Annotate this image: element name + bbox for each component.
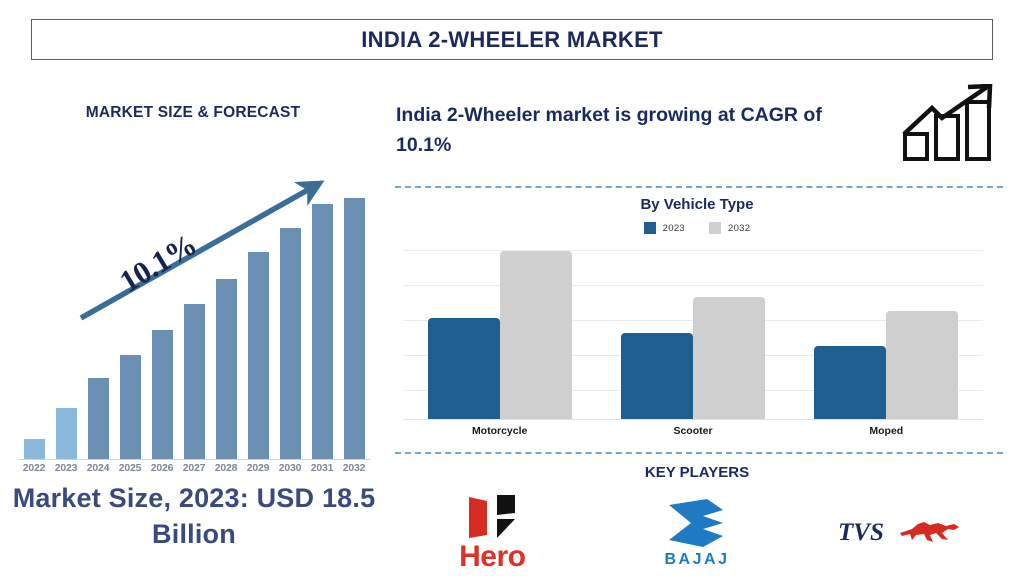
forecast-bar-wrap: [242, 173, 274, 459]
forecast-year-label: 2029: [242, 462, 274, 474]
vehicle-type-bar: [886, 311, 958, 420]
legend-item: 2032: [709, 222, 750, 234]
market-size-forecast-panel: MARKET SIZE & FORECAST 10.1% 20222023202…: [0, 70, 386, 576]
forecast-bar: [56, 408, 77, 459]
vehicle-type-bar: [621, 333, 693, 420]
forecast-year-label: 2026: [146, 462, 178, 474]
divider-top: [395, 186, 1003, 188]
vehicle-type-bar: [814, 346, 886, 420]
key-players-title: KEY PLAYERS: [390, 464, 1004, 481]
bajaj-logo-icon: [663, 497, 731, 549]
forecast-bar: [280, 228, 301, 459]
forecast-bar-wrap: [178, 173, 210, 459]
forecast-bar-wrap: [50, 173, 82, 459]
key-players-row: Hero BAJAJ TVS: [390, 488, 1004, 576]
forecast-bar: [184, 304, 205, 459]
vehicle-type-group: [801, 245, 971, 420]
vehicle-type-group: [608, 245, 778, 420]
forecast-bar: [88, 378, 109, 459]
forecast-bar: [344, 198, 365, 459]
market-size-forecast-heading: MARKET SIZE & FORECAST: [0, 104, 386, 122]
vehicle-type-category-labels: MotorcycleScooterMoped: [403, 425, 983, 437]
key-player-hero: Hero: [397, 488, 587, 576]
forecast-year-label: 2024: [82, 462, 114, 474]
forecast-year-label: 2023: [50, 462, 82, 474]
vehicle-type-category-label: Moped: [801, 425, 971, 437]
page-title: INDIA 2-WHEELER MARKET: [361, 27, 663, 53]
forecast-bar: [312, 204, 333, 459]
market-size-callout: Market Size, 2023: USD 18.5 Billion: [8, 480, 380, 552]
vehicle-type-category-label: Scooter: [608, 425, 778, 437]
legend-label: 2023: [663, 223, 685, 234]
divider-bottom: [395, 452, 1003, 454]
key-player-bajaj: BAJAJ: [602, 488, 792, 576]
vehicle-type-baseline: [403, 419, 983, 420]
infographic-root: INDIA 2-WHEELER MARKET MARKET SIZE & FOR…: [0, 0, 1024, 576]
forecast-bar: [24, 439, 45, 459]
forecast-year-label: 2030: [274, 462, 306, 474]
forecast-year-label: 2032: [338, 462, 370, 474]
vehicle-type-group: [415, 245, 585, 420]
forecast-bar-wrap: [338, 173, 370, 459]
key-player-tvs: TVS: [807, 488, 997, 576]
vehicle-type-bar: [500, 251, 572, 420]
legend-swatch: [644, 222, 656, 234]
growth-bar-chart-arrow-icon: [902, 84, 1006, 162]
forecast-year-label: 2027: [178, 462, 210, 474]
forecast-bar-wrap: [146, 173, 178, 459]
vehicle-type-bar-chart: [403, 245, 983, 420]
forecast-year-labels: 2022202320242025202620272028202920302031…: [18, 462, 370, 474]
market-size-line-1: Market Size, 2023: USD: [13, 483, 315, 513]
forecast-year-label: 2022: [18, 462, 50, 474]
legend-label: 2032: [728, 223, 750, 234]
legend-item: 2023: [644, 222, 685, 234]
forecast-bars: [18, 173, 370, 459]
vehicle-type-legend: 20232032: [390, 222, 1004, 234]
cagr-headline: India 2-Wheeler market is growing at CAG…: [396, 100, 856, 160]
tvs-wordmark: TVS: [838, 519, 884, 546]
forecast-year-label: 2025: [114, 462, 146, 474]
hero-logo-icon: [461, 493, 523, 539]
vehicle-type-bar: [428, 318, 500, 420]
legend-swatch: [709, 222, 721, 234]
forecast-bar: [152, 330, 173, 459]
page-title-box: INDIA 2-WHEELER MARKET: [31, 19, 993, 60]
vehicle-type-bar: [693, 297, 765, 420]
hero-wordmark: Hero: [459, 540, 525, 574]
forecast-bar: [120, 355, 141, 459]
tvs-logo-icon: TVS: [838, 513, 966, 553]
forecast-bar-chart: [18, 170, 370, 460]
forecast-bar-wrap: [114, 173, 146, 459]
forecast-bar-wrap: [210, 173, 242, 459]
forecast-bar: [216, 279, 237, 459]
vehicle-type-category-label: Motorcycle: [415, 425, 585, 437]
tvs-horse-icon: [900, 522, 959, 542]
bajaj-wordmark: BAJAJ: [665, 551, 730, 569]
forecast-baseline: [18, 459, 370, 460]
forecast-bar-wrap: [18, 173, 50, 459]
forecast-bar-wrap: [306, 173, 338, 459]
right-panel: India 2-Wheeler market is growing at CAG…: [390, 70, 1024, 576]
forecast-bar-wrap: [82, 173, 114, 459]
forecast-year-label: 2031: [306, 462, 338, 474]
forecast-bar-wrap: [274, 173, 306, 459]
forecast-bar: [248, 252, 269, 459]
vehicle-type-groups: [403, 245, 983, 420]
by-vehicle-type-title: By Vehicle Type: [390, 196, 1004, 213]
forecast-year-label: 2028: [210, 462, 242, 474]
